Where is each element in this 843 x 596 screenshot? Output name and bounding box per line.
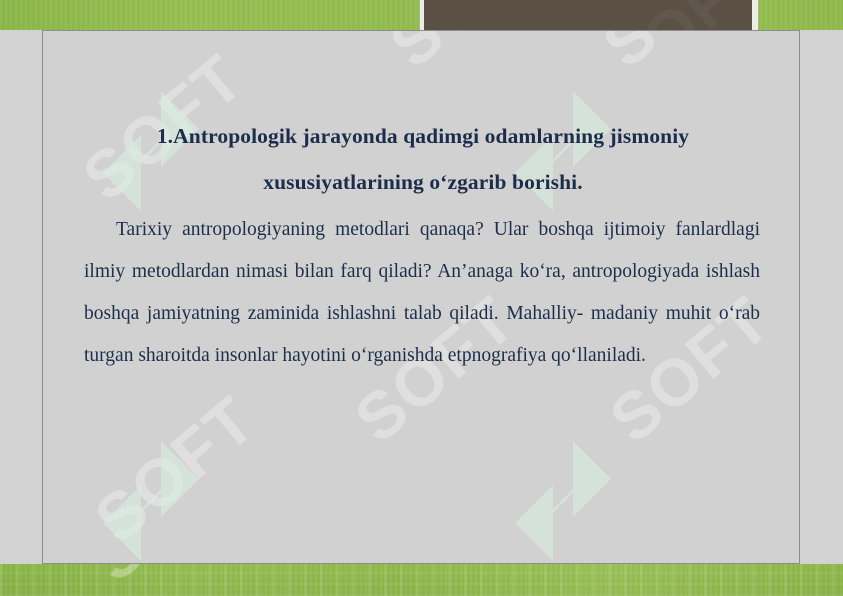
- s-logo-watermark: [103, 441, 199, 561]
- s-logo-watermark: [515, 441, 611, 561]
- content-panel: SOFT SOFT SOFT SOFT SOFT SOFT: [42, 30, 800, 564]
- presentation-slide: SOFT SOFT SOFT SOFT SOFT SOFT SOFT SOFT: [0, 0, 843, 596]
- soft-text-watermark: SOFT: [80, 381, 270, 557]
- soft-text-watermark: SOFT: [375, 31, 565, 82]
- slide-title: 1.Antropologik jarayonda qadimgi odamlar…: [113, 113, 733, 205]
- slide-body-text: Tarixiy antropologiyaning metodlari qana…: [84, 209, 760, 377]
- soft-text-watermark: SOFT: [588, 31, 778, 82]
